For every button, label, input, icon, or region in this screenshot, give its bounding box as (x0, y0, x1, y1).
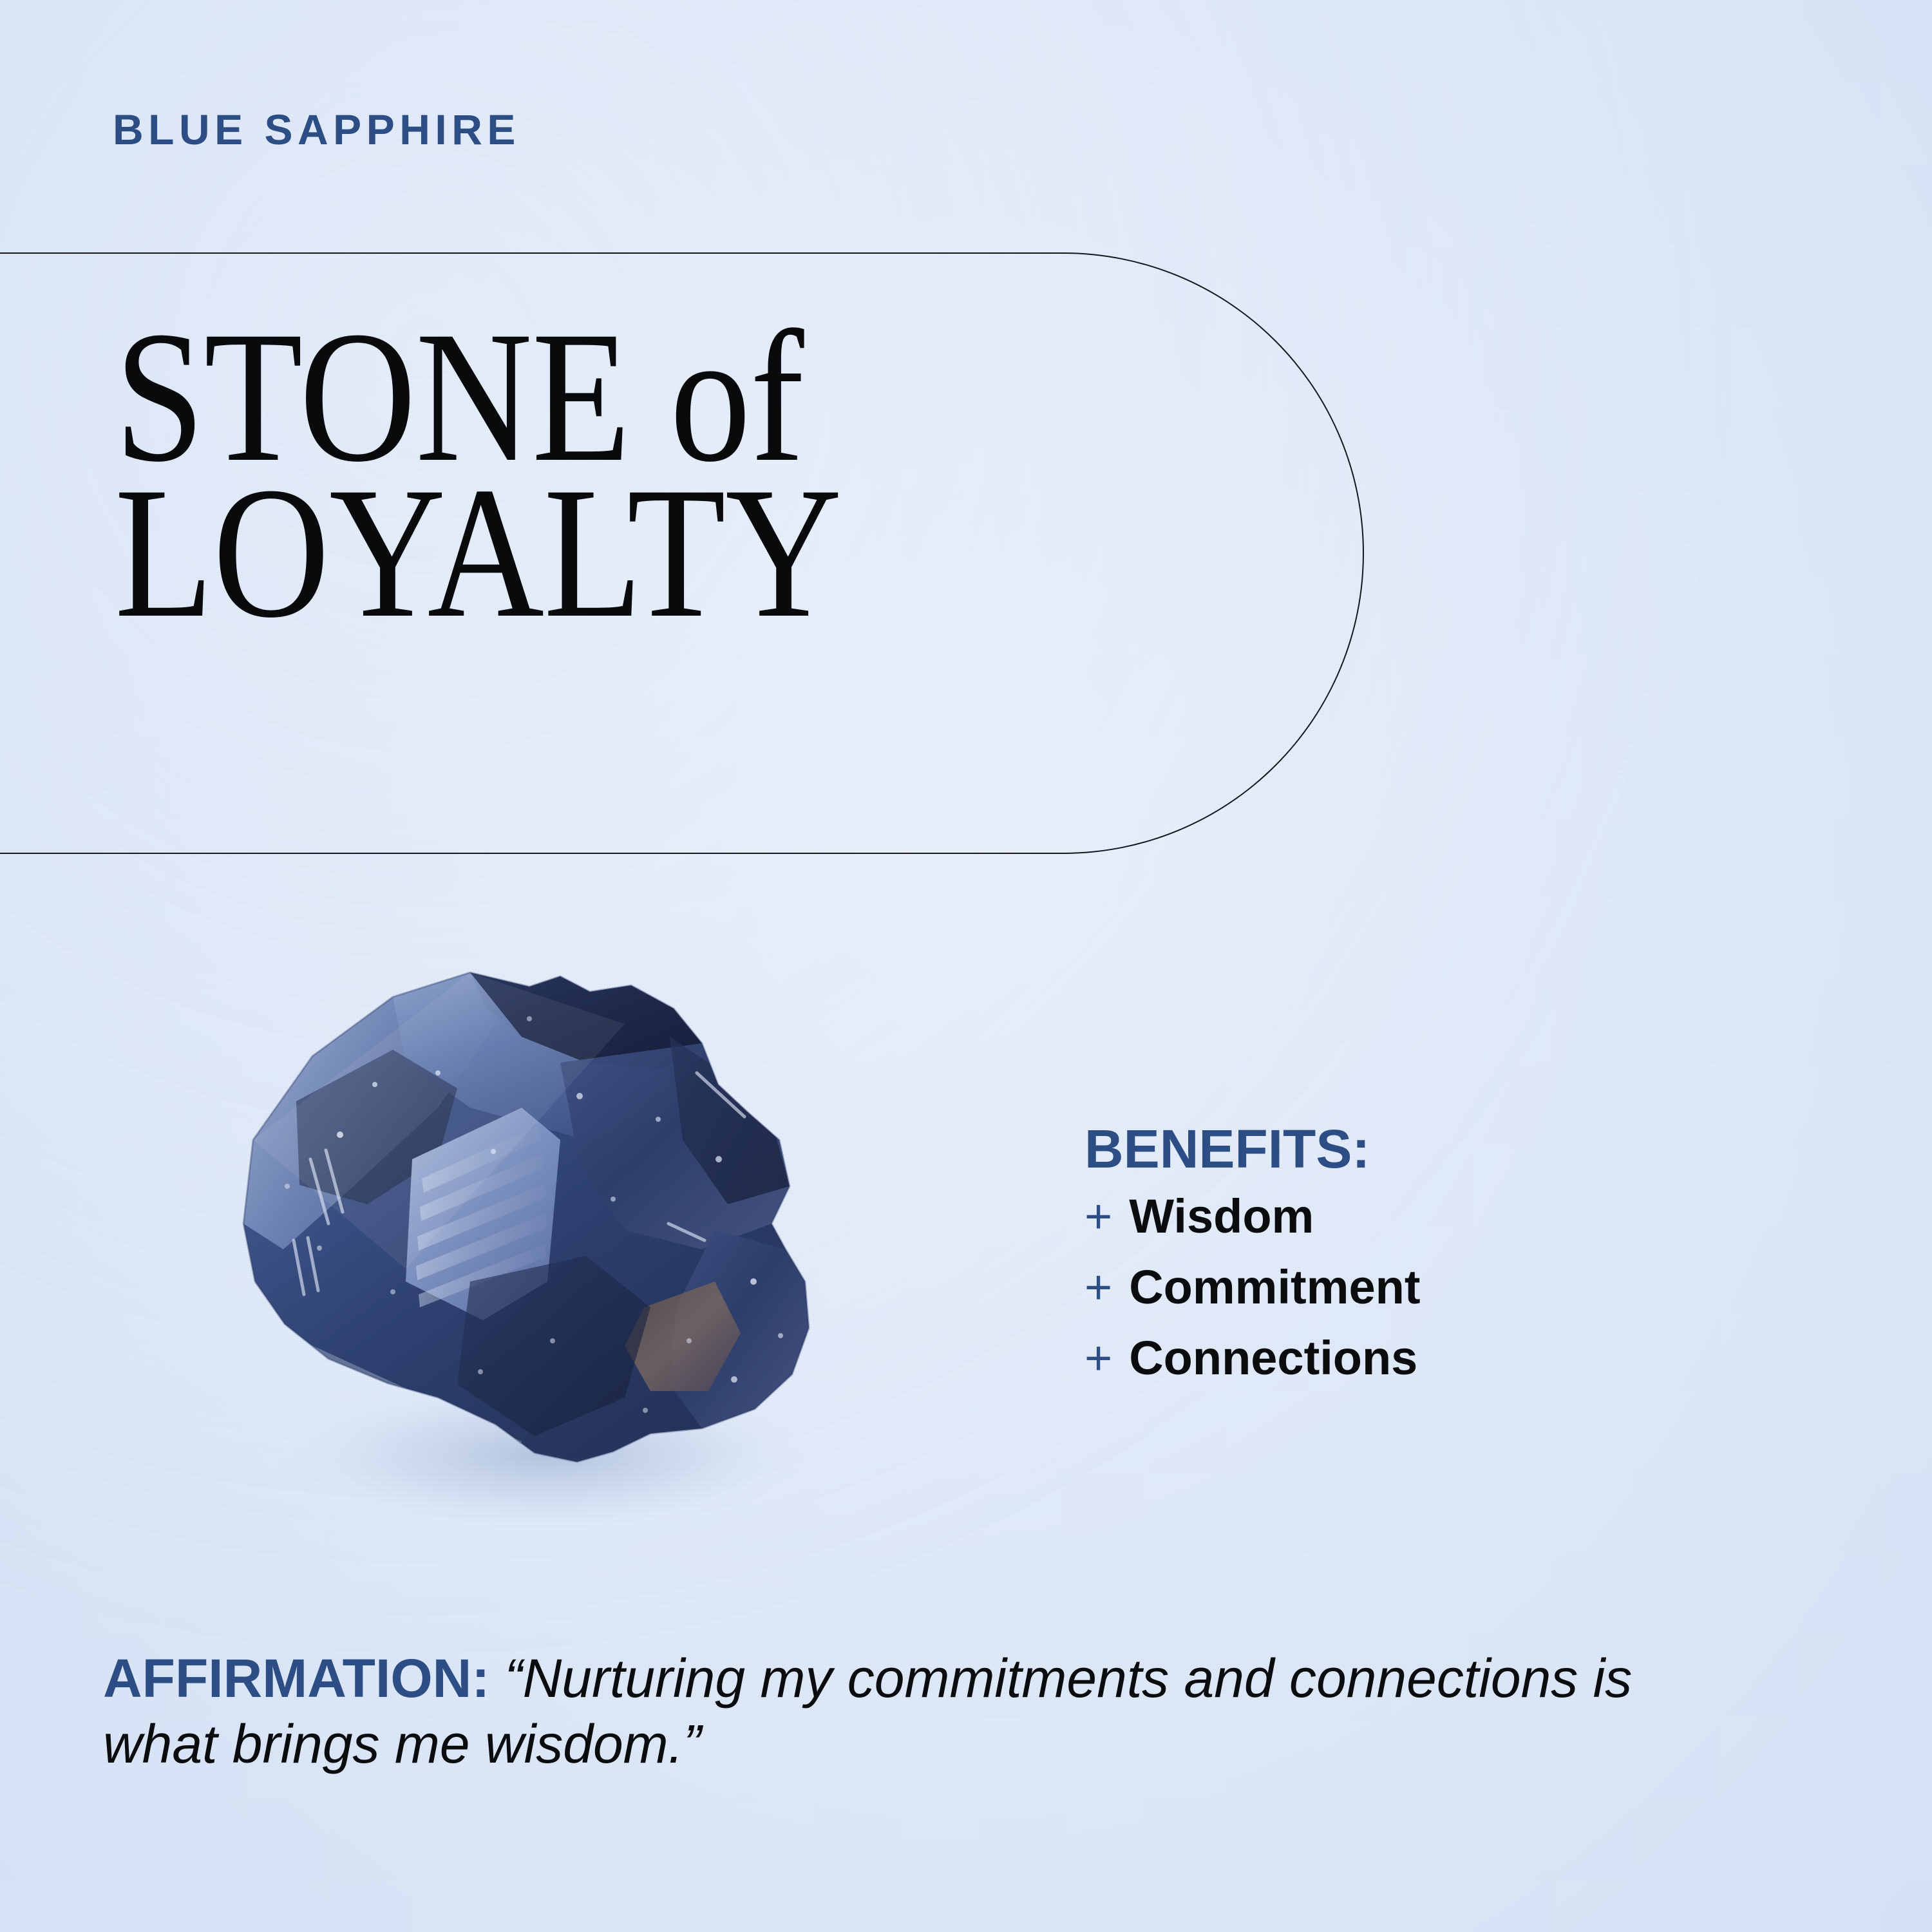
affirmation-section: AFFIRMATION: “Nurturing my commitments a… (103, 1645, 1726, 1777)
benefit-label: Wisdom (1129, 1193, 1314, 1240)
plus-icon: + (1084, 1193, 1112, 1240)
benefits-list: + Wisdom + Commitment + Connections (1084, 1193, 1857, 1382)
page-title: STONE of LOYALTY (115, 322, 1274, 628)
benefit-label: Commitment (1129, 1264, 1420, 1311)
benefit-item-commitment: + Commitment (1084, 1264, 1857, 1311)
benefits-section: BENEFITS: + Wisdom + Commitment + Connec… (1084, 1122, 1857, 1405)
plus-icon: + (1084, 1264, 1112, 1311)
plus-icon: + (1084, 1334, 1112, 1382)
benefit-item-connections: + Connections (1084, 1334, 1857, 1382)
page-title-line-2: LOYALTY (115, 478, 1112, 629)
sapphire-crystal-image (135, 947, 857, 1591)
affirmation-label: AFFIRMATION: (103, 1648, 489, 1709)
eyebrow-label: BLUE SAPPHIRE (113, 108, 520, 151)
benefit-item-wisdom: + Wisdom (1084, 1193, 1857, 1240)
benefit-label: Connections (1129, 1334, 1417, 1382)
benefits-heading: BENEFITS: (1084, 1122, 1857, 1176)
